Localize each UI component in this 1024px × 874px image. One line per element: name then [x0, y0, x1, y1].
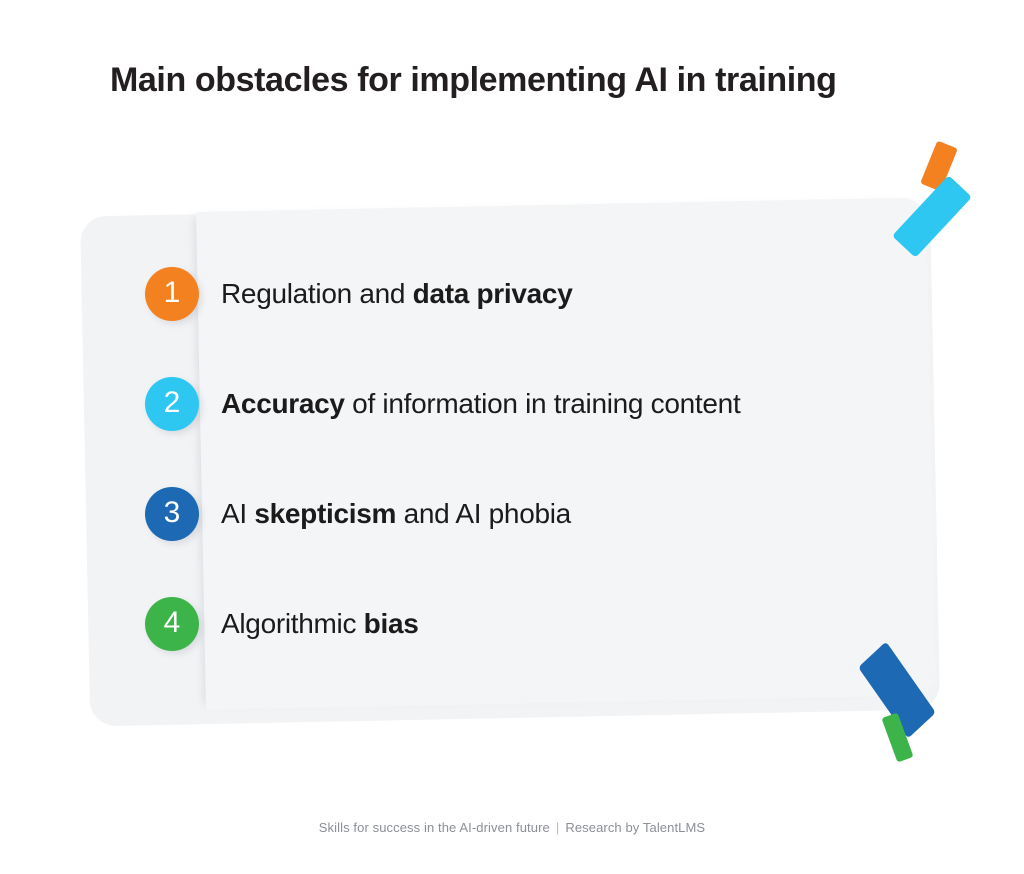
- list-item: 4 Algorithmic bias: [145, 596, 965, 652]
- footer-separator: |: [556, 820, 559, 835]
- list-item-label-bold: data privacy: [413, 278, 573, 309]
- list-item: 2 Accuracy of information in training co…: [145, 376, 965, 432]
- list-item-number-badge: 3: [145, 487, 199, 541]
- obstacles-list: 1 Regulation and data privacy 2 Accuracy…: [0, 0, 1024, 874]
- list-item-label-pre: AI: [221, 498, 254, 529]
- footer-right-text: Research by TalentLMS: [565, 820, 705, 835]
- list-item: 3 AI skepticism and AI phobia: [145, 486, 965, 542]
- list-item-label: Algorithmic bias: [221, 608, 419, 640]
- list-item-label: Accuracy of information in training cont…: [221, 388, 740, 420]
- list-item-label: Regulation and data privacy: [221, 278, 572, 310]
- list-item-label-pre: Algorithmic: [221, 608, 364, 639]
- footer-left-text: Skills for success in the AI-driven futu…: [319, 820, 550, 835]
- list-item-number: 3: [164, 498, 181, 528]
- list-item-label-bold: bias: [364, 608, 419, 639]
- list-item-number-badge: 4: [145, 597, 199, 651]
- list-item-label-pre: Regulation and: [221, 278, 413, 309]
- list-item-label-post: of information in training content: [345, 388, 741, 419]
- list-item: 1 Regulation and data privacy: [145, 266, 965, 322]
- list-item-number-badge: 2: [145, 377, 199, 431]
- list-item-number-badge: 1: [145, 267, 199, 321]
- list-item-label-bold: skepticism: [254, 498, 396, 529]
- list-item-number: 4: [164, 608, 181, 638]
- list-item-label-post: and AI phobia: [396, 498, 571, 529]
- list-item-label-bold: Accuracy: [221, 388, 345, 419]
- list-item-label: AI skepticism and AI phobia: [221, 498, 571, 530]
- list-item-number: 2: [164, 388, 181, 418]
- list-item-number: 1: [164, 278, 181, 308]
- footer-credit: Skills for success in the AI-driven futu…: [0, 820, 1024, 835]
